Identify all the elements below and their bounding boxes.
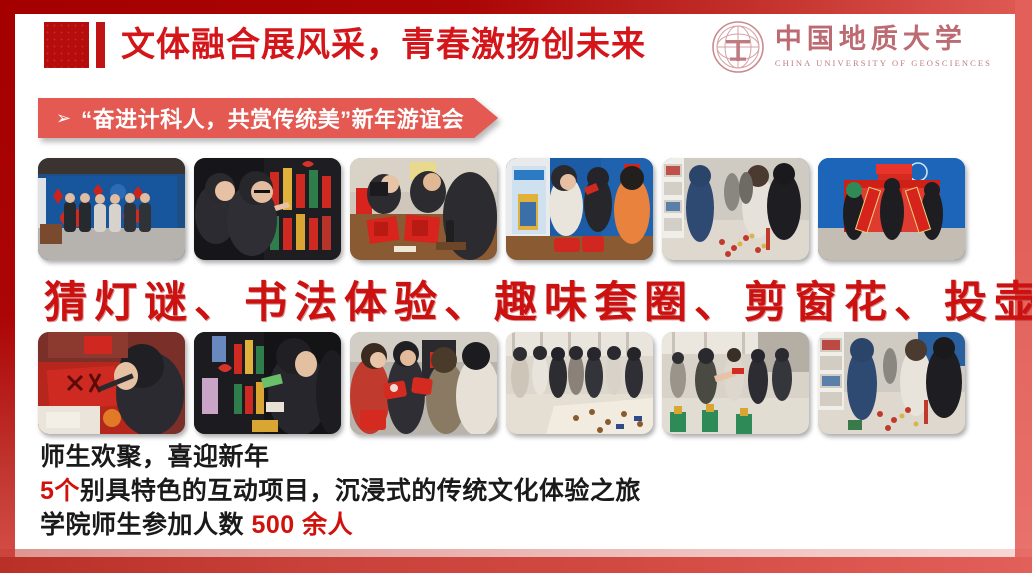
photo-thumbnail bbox=[818, 158, 965, 260]
photo-thumbnail bbox=[350, 332, 497, 434]
university-seal-icon bbox=[711, 20, 765, 74]
caption-line: 师生欢聚，喜迎新年 bbox=[40, 440, 641, 474]
subtitle-text: “奋进计科人，共赏传统美”新年游谊会 bbox=[81, 102, 464, 134]
caption-plain-before: 学院师生参加人数 bbox=[40, 511, 251, 539]
photo-thumbnail bbox=[506, 332, 653, 434]
frame-border-bottom bbox=[0, 557, 1032, 573]
frame-border-left bbox=[0, 0, 15, 573]
title-accent-bar bbox=[96, 22, 105, 68]
summary-captions: 师生欢聚，喜迎新年 5个别具特色的互动项目，沉浸式的传统文化体验之旅 学院师生参… bbox=[40, 440, 641, 542]
caption-line: 学院师生参加人数 500 余人 bbox=[40, 508, 641, 542]
photo-row-bottom bbox=[38, 332, 965, 434]
caption-highlight: 5个 bbox=[40, 477, 80, 505]
photo-thumbnail bbox=[194, 332, 341, 434]
photo-thumbnail bbox=[350, 158, 497, 260]
arrow-bullet-icon: ➢ bbox=[56, 109, 71, 127]
caption-plain-after: 别具特色的互动项目，沉浸式的传统文化体验之旅 bbox=[80, 477, 641, 505]
page-title: 文体融合展风采，青春激扬创未来 bbox=[121, 28, 646, 62]
subtitle-ribbon: ➢ “奋进计科人，共赏传统美”新年游谊会 bbox=[38, 98, 498, 138]
photo-thumbnail bbox=[662, 158, 809, 260]
frame-border-top bbox=[0, 0, 1032, 14]
university-name-block: 中国地质大学 CHINA UNIVERSITY OF GEOSCIENCES bbox=[775, 26, 992, 67]
slide-root: 文体融合展风采，青春激扬创未来 中国地质大学 CHINA UNIVERSITY … bbox=[0, 0, 1032, 573]
frame-border-bottom-shade bbox=[0, 549, 1032, 557]
photo-thumbnail bbox=[38, 158, 185, 260]
university-logo: 中国地质大学 CHINA UNIVERSITY OF GEOSCIENCES bbox=[711, 20, 992, 74]
slide-header: 文体融合展风采，青春激扬创未来 bbox=[44, 22, 646, 68]
photo-thumbnail bbox=[662, 332, 809, 434]
title-accent-block bbox=[44, 22, 89, 68]
caption-highlight: 500 余人 bbox=[251, 511, 353, 539]
photo-thumbnail bbox=[194, 158, 341, 260]
university-name-cn: 中国地质大学 bbox=[775, 26, 992, 54]
photo-row-top bbox=[38, 158, 965, 260]
activities-headline: 猜灯谜、书法体验、趣味套圈、剪窗花、投壶等 bbox=[44, 268, 1032, 330]
photo-thumbnail bbox=[38, 332, 185, 434]
caption-line: 5个别具特色的互动项目，沉浸式的传统文化体验之旅 bbox=[40, 474, 641, 508]
photo-thumbnail bbox=[506, 158, 653, 260]
university-name-en: CHINA UNIVERSITY OF GEOSCIENCES bbox=[775, 58, 992, 68]
caption-plain-before: 师生欢聚，喜迎新年 bbox=[40, 443, 270, 471]
photo-thumbnail bbox=[818, 332, 965, 434]
